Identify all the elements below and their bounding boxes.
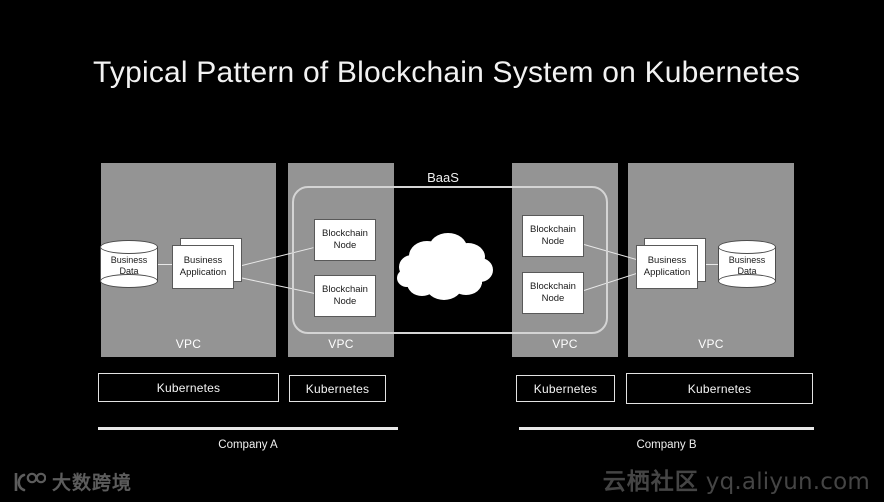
company-b-rule bbox=[519, 427, 814, 430]
blockchain-node-1-line2: Node bbox=[322, 240, 368, 252]
cloud-icon bbox=[396, 230, 496, 304]
company-a-label: Company A bbox=[98, 439, 398, 451]
page-title: Typical Pattern of Blockchain System on … bbox=[93, 56, 833, 90]
watermark-left: 大数跨境 bbox=[12, 468, 132, 495]
business-app-left-line1: Business bbox=[184, 255, 223, 266]
watermark-right-url: yq.aliyun.com bbox=[706, 469, 870, 495]
blockchain-node-4-line2: Node bbox=[530, 293, 576, 305]
company-b-label: Company B bbox=[519, 439, 814, 451]
blockchain-node-2-line1: Blockchain bbox=[322, 284, 368, 296]
vpc-label-1: VPC bbox=[101, 337, 276, 351]
business-data-left-line1: Business bbox=[111, 255, 148, 265]
company-a-rule bbox=[98, 427, 398, 430]
business-app-right-line2: Application bbox=[644, 267, 690, 278]
vpc-label-4: VPC bbox=[628, 337, 794, 351]
vpc-panel-3: VPC bbox=[512, 163, 618, 357]
business-app-left-line2: Application bbox=[180, 267, 226, 278]
vpc-label-3: VPC bbox=[512, 337, 618, 351]
watermark-right-cn: 云栖社区 bbox=[603, 462, 699, 496]
slide-canvas: Typical Pattern of Blockchain System on … bbox=[0, 0, 884, 502]
business-app-right-line1: Business bbox=[648, 255, 687, 266]
business-data-left-line2: Data bbox=[119, 266, 138, 276]
blockchain-node-3: Blockchain Node bbox=[522, 215, 584, 257]
app-stack-front-sheet: Business Application bbox=[172, 245, 234, 289]
business-data-left-label: Business Data bbox=[100, 251, 158, 281]
baas-label: BaaS bbox=[383, 170, 503, 185]
blockchain-node-2: Blockchain Node bbox=[314, 275, 376, 317]
blockchain-node-1: Blockchain Node bbox=[314, 219, 376, 261]
business-data-right-label: Business Data bbox=[718, 251, 776, 281]
watermark-left-text: 大数跨境 bbox=[52, 468, 132, 495]
business-data-left: Business Data bbox=[100, 240, 158, 288]
watermark-right: 云栖社区 yq.aliyun.com bbox=[603, 462, 870, 496]
blockchain-node-3-line1: Blockchain bbox=[530, 224, 576, 236]
kubernetes-box-2: Kubernetes bbox=[289, 375, 386, 402]
blockchain-node-3-line2: Node bbox=[530, 236, 576, 248]
blockchain-node-4-line1: Blockchain bbox=[530, 281, 576, 293]
blockchain-node-2-line2: Node bbox=[322, 296, 368, 308]
kubernetes-box-1: Kubernetes bbox=[98, 373, 279, 402]
blockchain-node-1-line1: Blockchain bbox=[322, 228, 368, 240]
kubernetes-box-4: Kubernetes bbox=[626, 373, 813, 404]
vpc-label-2: VPC bbox=[288, 337, 394, 351]
app-stack-front-sheet: Business Application bbox=[636, 245, 698, 289]
blockchain-node-4: Blockchain Node bbox=[522, 272, 584, 314]
kubernetes-box-3: Kubernetes bbox=[516, 375, 615, 402]
brand-logo-icon bbox=[12, 471, 46, 493]
business-data-right: Business Data bbox=[718, 240, 776, 288]
business-data-right-line2: Data bbox=[737, 266, 756, 276]
business-data-right-line1: Business bbox=[729, 255, 766, 265]
